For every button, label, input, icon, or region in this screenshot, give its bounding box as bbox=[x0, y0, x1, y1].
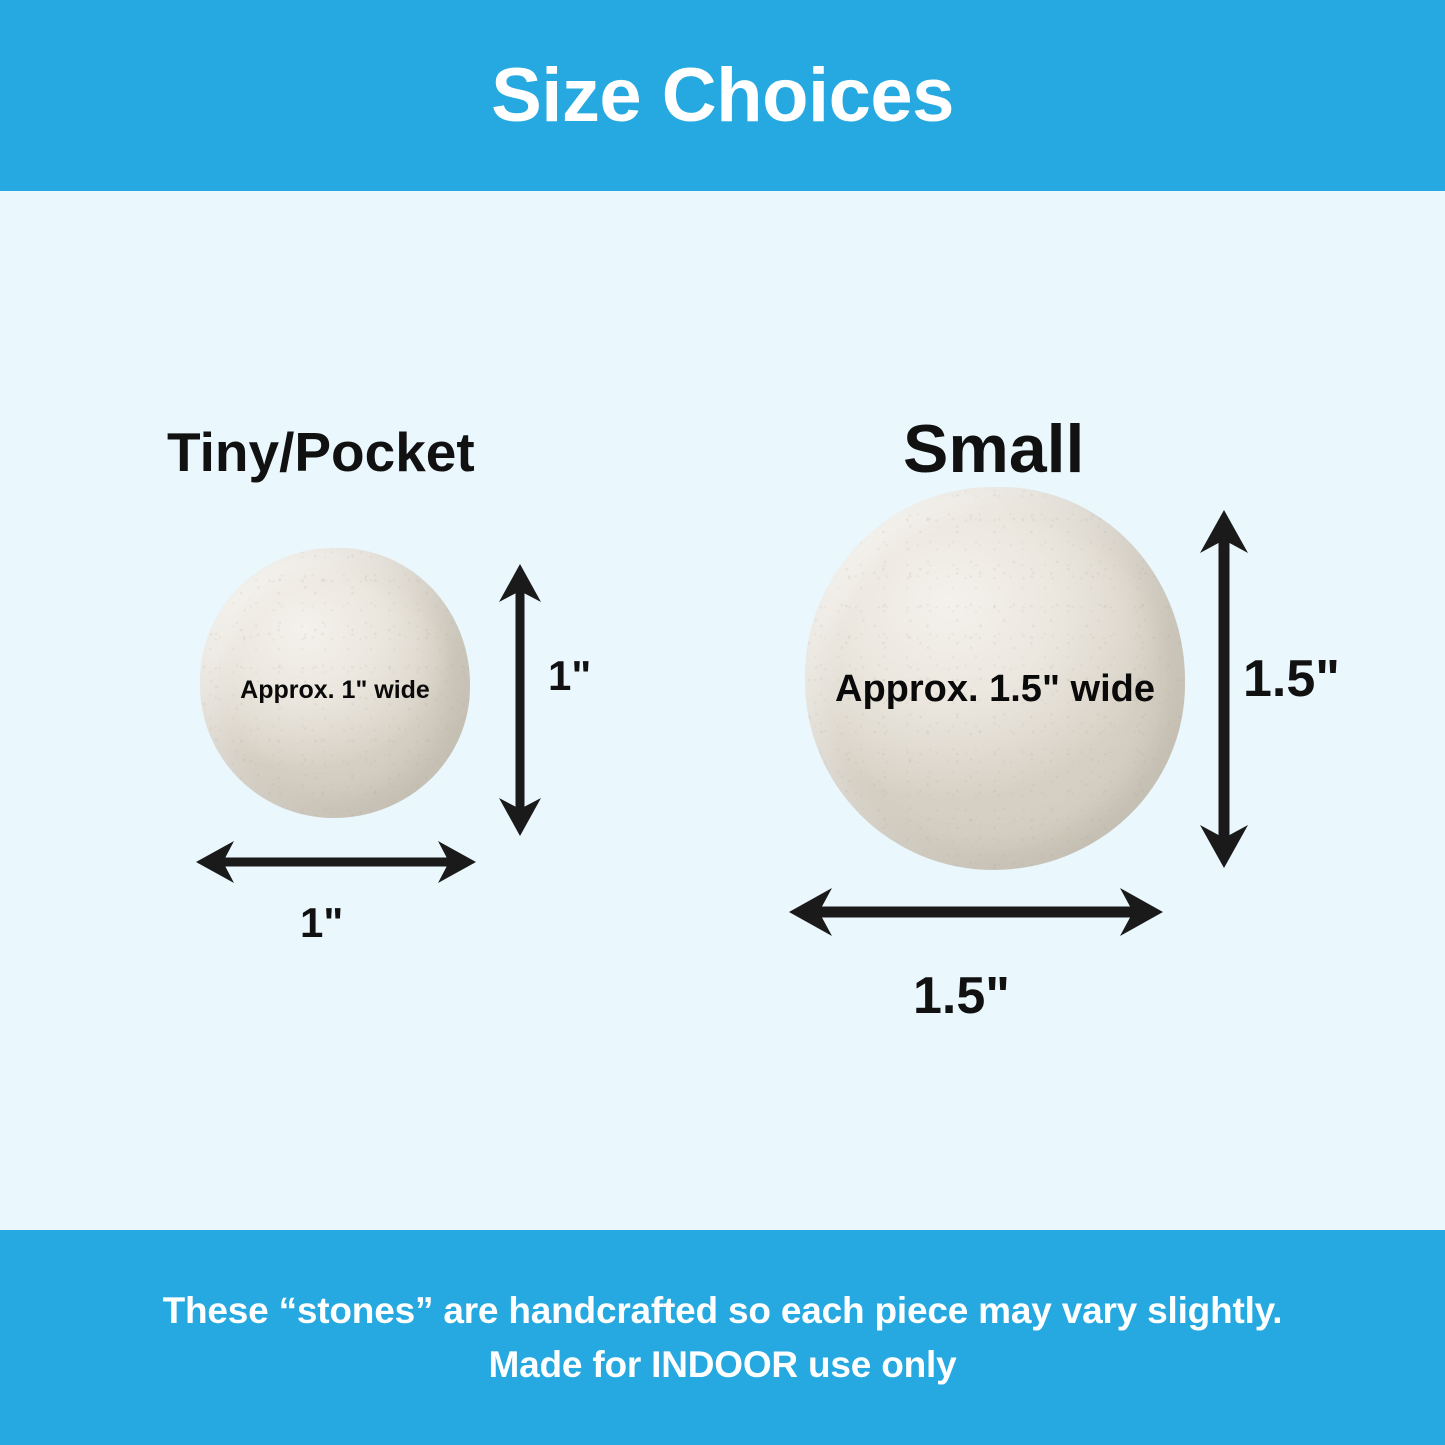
stone-size-caption-small: Approx. 1.5" wide bbox=[835, 668, 1155, 711]
footer-disclaimer-line-2: Made for INDOOR use only bbox=[488, 1338, 956, 1392]
page-title: Size Choices bbox=[491, 58, 954, 134]
height-label-tiny: 1" bbox=[548, 655, 591, 697]
stone-small: Approx. 1.5" wide bbox=[805, 487, 1185, 870]
width-label-tiny: 1" bbox=[300, 902, 343, 944]
size-heading-tiny-pocket: Tiny/Pocket bbox=[167, 425, 475, 480]
stone-size-caption-tiny: Approx. 1" wide bbox=[240, 676, 430, 705]
stone-tiny-pocket: Approx. 1" wide bbox=[200, 548, 470, 818]
width-arrow-small bbox=[784, 884, 1168, 940]
size-heading-small: Small bbox=[903, 415, 1084, 483]
height-arrow-tiny bbox=[496, 560, 544, 840]
height-label-small: 1.5" bbox=[1243, 653, 1340, 705]
header-banner: Size Choices bbox=[0, 0, 1445, 191]
size-chart-page: Size Choices Tiny/Pocket Approx. 1" wide… bbox=[0, 0, 1445, 1445]
width-label-small: 1.5" bbox=[913, 970, 1010, 1022]
footer-banner: These “stones” are handcrafted so each p… bbox=[0, 1230, 1445, 1445]
width-arrow-tiny bbox=[192, 838, 480, 886]
footer-disclaimer-line-1: These “stones” are handcrafted so each p… bbox=[163, 1284, 1283, 1338]
